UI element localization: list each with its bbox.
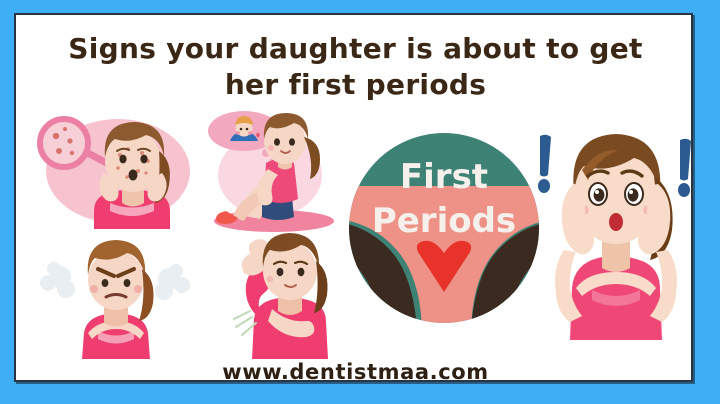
illustration-crush-girl — [196, 111, 356, 231]
page-title: Signs your daughter is about to get her … — [16, 31, 693, 103]
steam-puff-right-icon — [155, 264, 190, 300]
open-mouth — [609, 213, 623, 231]
title-line-2: her first periods — [16, 67, 693, 103]
steam-puff-left-icon — [40, 262, 75, 298]
badge-line-2: Periods — [372, 201, 516, 241]
exclamation-left-icon — [538, 135, 551, 193]
illustration-shocked-girl — [530, 110, 693, 340]
badge-line-1: First — [400, 157, 488, 197]
illustration-acne-girl — [32, 111, 197, 229]
exclamation-right-icon — [678, 139, 691, 197]
underarm-hair-lines — [234, 311, 256, 335]
poster-card: Signs your daughter is about to get her … — [14, 13, 693, 382]
footer-url: www.dentistmaa.com — [16, 360, 693, 382]
center-badge-first-periods: First Periods — [344, 128, 544, 328]
illustration-underarm-girl — [206, 227, 361, 359]
illustration-angry-girl — [36, 227, 196, 359]
poster-root: Signs your daughter is about to get her … — [0, 0, 720, 404]
title-line-1: Signs your daughter is about to get — [68, 32, 642, 65]
